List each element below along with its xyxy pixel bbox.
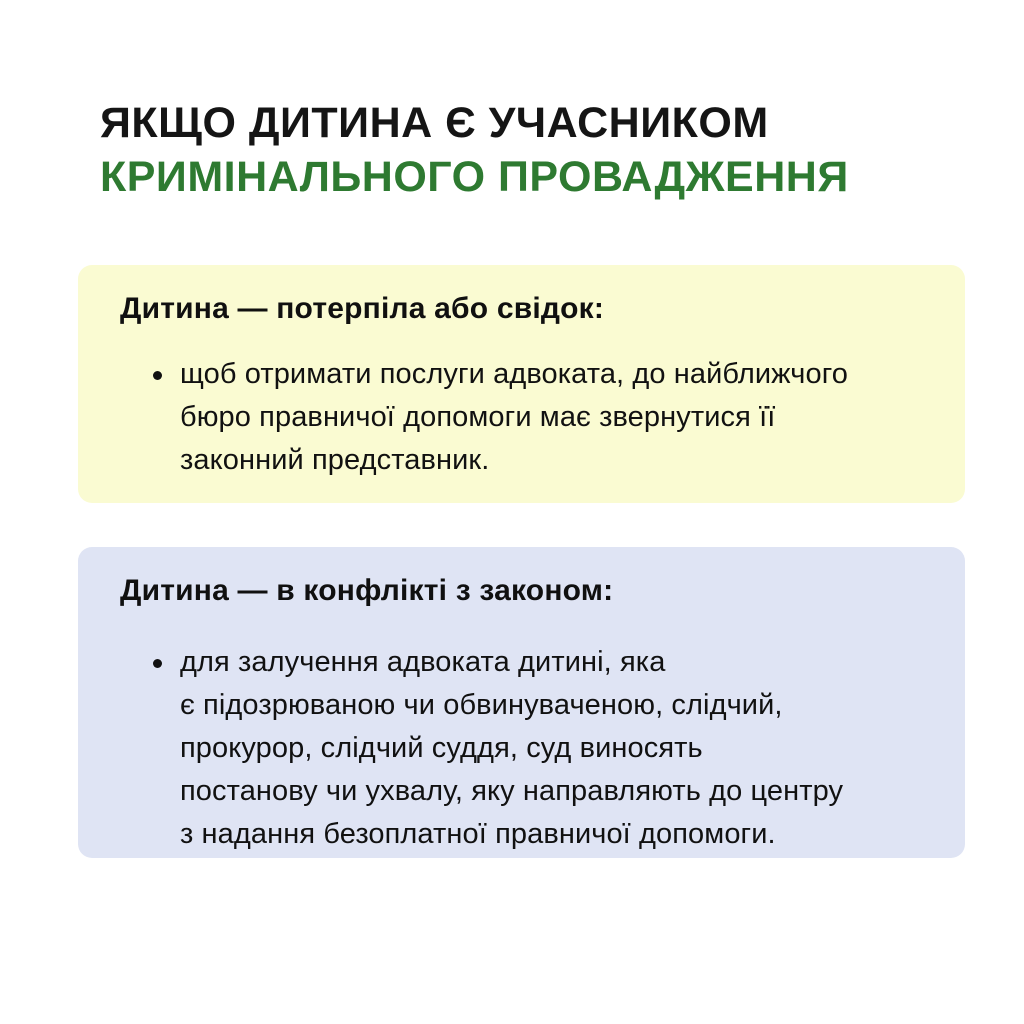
card-in-conflict-with-law: Дитина — в конфлікті з законом: для залу… — [78, 547, 965, 858]
card-heading: Дитина — в конфлікті з законом: — [120, 573, 943, 609]
page-title-line-1: ЯКЩО ДИТИНА Є УЧАСНИКОМ — [100, 96, 940, 150]
bullet-list: щоб отримати послуги адвоката, до найбли… — [100, 353, 943, 482]
card-heading: Дитина — потерпіла або свідок: — [120, 291, 943, 327]
page-title: ЯКЩО ДИТИНА Є УЧАСНИКОМ КРИМІНАЛЬНОГО ПР… — [100, 96, 940, 204]
list-item: для залучення адвоката дитині, яка є під… — [100, 641, 943, 856]
list-item: щоб отримати послуги адвоката, до найбли… — [100, 353, 943, 482]
infographic-slide: ЯКЩО ДИТИНА Є УЧАСНИКОМ КРИМІНАЛЬНОГО ПР… — [0, 0, 1024, 1024]
list-item-text: щоб отримати послуги адвоката, до найбли… — [180, 353, 943, 482]
card-victim-or-witness: Дитина — потерпіла або свідок: щоб отрим… — [78, 265, 965, 503]
page-title-line-2: КРИМІНАЛЬНОГО ПРОВАДЖЕННЯ — [100, 150, 940, 204]
list-item-text: для залучення адвоката дитині, яка є під… — [180, 641, 943, 856]
bullet-dot-icon — [153, 371, 162, 380]
bullet-list: для залучення адвоката дитині, яка є під… — [100, 641, 943, 856]
bullet-dot-icon — [153, 659, 162, 668]
